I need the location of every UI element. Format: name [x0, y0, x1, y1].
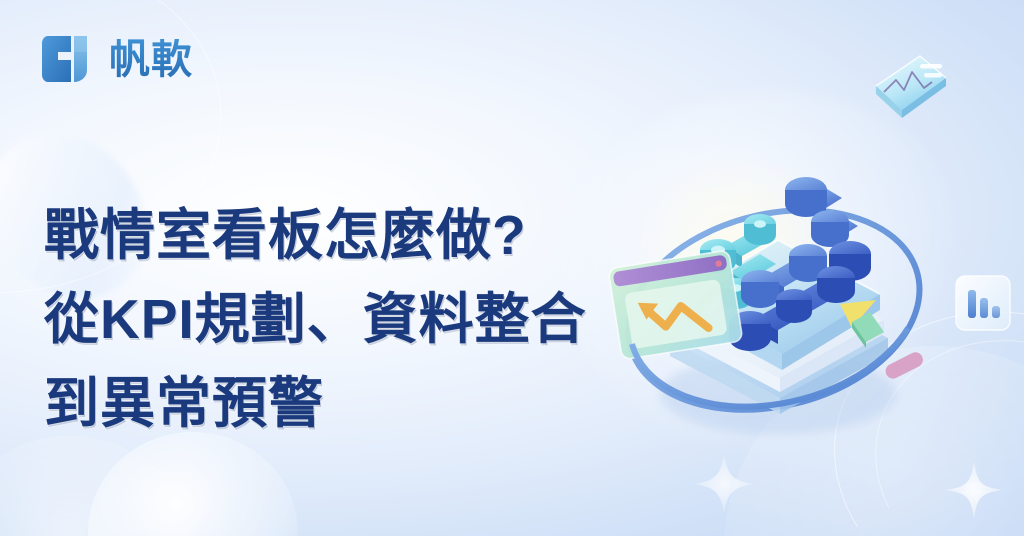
brand-logo[interactable]: 帆軟 [38, 30, 193, 88]
headline-line-1: 戰情室看板怎麼做? [44, 193, 644, 277]
headline-line-3: 到異常預警 [44, 361, 644, 445]
headline: 戰情室看板怎麼做? 從KPI規劃、資料整合 到異常預警 [44, 193, 644, 445]
chart-window-panel [608, 250, 743, 360]
blob-bottom-left-2 [0, 436, 200, 536]
headline-line-2: 從KPI規劃、資料整合 [44, 277, 644, 361]
bar-chart-card [952, 268, 1014, 342]
fanruan-logo-mark-icon [38, 30, 96, 88]
line-chart-card [866, 42, 952, 136]
dashboard-network-3d-illustration [608, 132, 938, 452]
sparkle-icon-right [942, 458, 1006, 522]
promo-banner: 帆軟 戰情室看板怎麼做? 從KPI規劃、資料整合 到異常預警 [0, 0, 1024, 536]
sparkle-icon-left [688, 448, 760, 520]
blob-bottom-left [88, 432, 298, 536]
brand-name: 帆軟 [109, 39, 193, 80]
